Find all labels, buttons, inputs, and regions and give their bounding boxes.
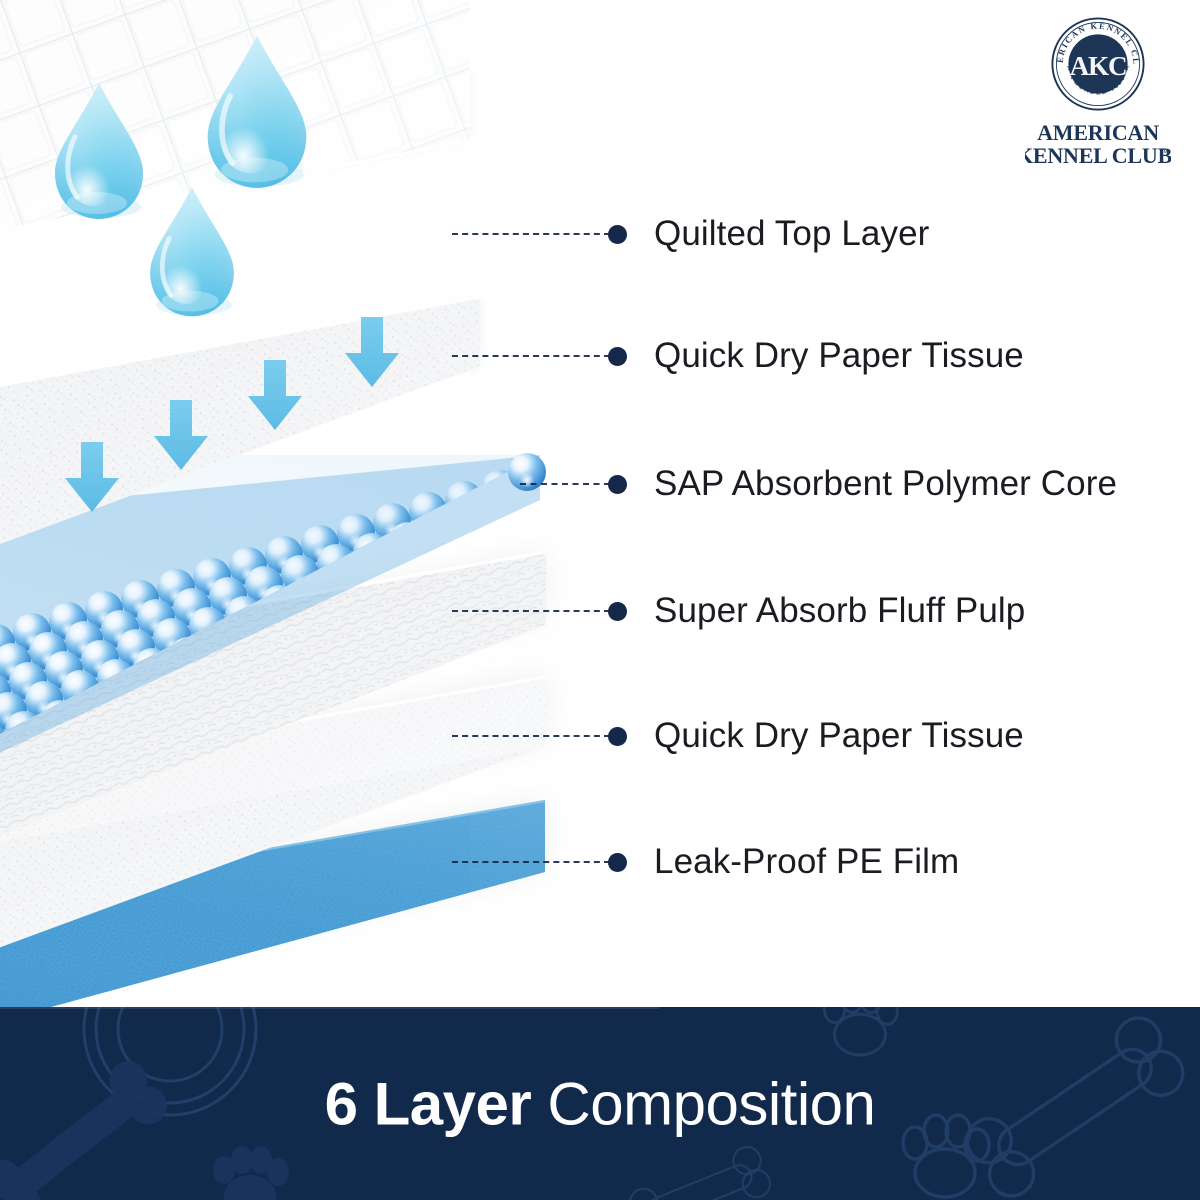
banner-top-divider (0, 1007, 660, 1009)
callout-dot (608, 853, 627, 872)
leader-line (452, 610, 610, 612)
seal-monogram-text: AKC (1070, 51, 1127, 81)
callout-dot (608, 602, 627, 621)
banner-title-light: Composition (547, 1070, 875, 1137)
callout-label: Quilted Top Layer (654, 216, 929, 251)
trademark-symbol: ™ (1160, 148, 1168, 157)
leader-line (520, 483, 610, 485)
infographic-canvas: AMERICAN KENNEL CLUB FOUNDED 1884 ★ ★ AK… (0, 0, 1200, 1200)
akc-wordmark: AMERICAN KENNEL CLUB ™ (1025, 118, 1171, 170)
akc-seal-icon: AMERICAN KENNEL CLUB FOUNDED 1884 ★ ★ AK… (1050, 16, 1146, 112)
callout-label: Super Absorb Fluff Pulp (654, 593, 1025, 628)
callout-label: Quick Dry Paper Tissue (654, 718, 1024, 753)
callout-label: SAP Absorbent Polymer Core (654, 466, 1117, 501)
banner-title-bold: 6 Layer (325, 1070, 532, 1137)
leader-line (452, 861, 610, 863)
leader-line (452, 735, 610, 737)
callout-label: Quick Dry Paper Tissue (654, 338, 1024, 373)
leader-line (452, 233, 610, 235)
callout-label: Leak-Proof PE Film (654, 844, 959, 879)
akc-logo: AMERICAN KENNEL CLUB FOUNDED 1884 ★ ★ AK… (1024, 16, 1172, 170)
wordmark-line-2: KENNEL CLUB (1025, 143, 1171, 168)
callout-dot (608, 347, 627, 366)
exploded-layer-illustration (0, 0, 1200, 1010)
banner-title: 6 Layer Composition (0, 1069, 1200, 1138)
callout-dot (608, 727, 627, 746)
wordmark-line-1: AMERICAN (1037, 120, 1159, 145)
callout-dot (608, 225, 627, 244)
bottom-title-banner: 6 Layer Composition (0, 1007, 1200, 1200)
callout-dot (608, 475, 627, 494)
leader-line (452, 355, 610, 357)
